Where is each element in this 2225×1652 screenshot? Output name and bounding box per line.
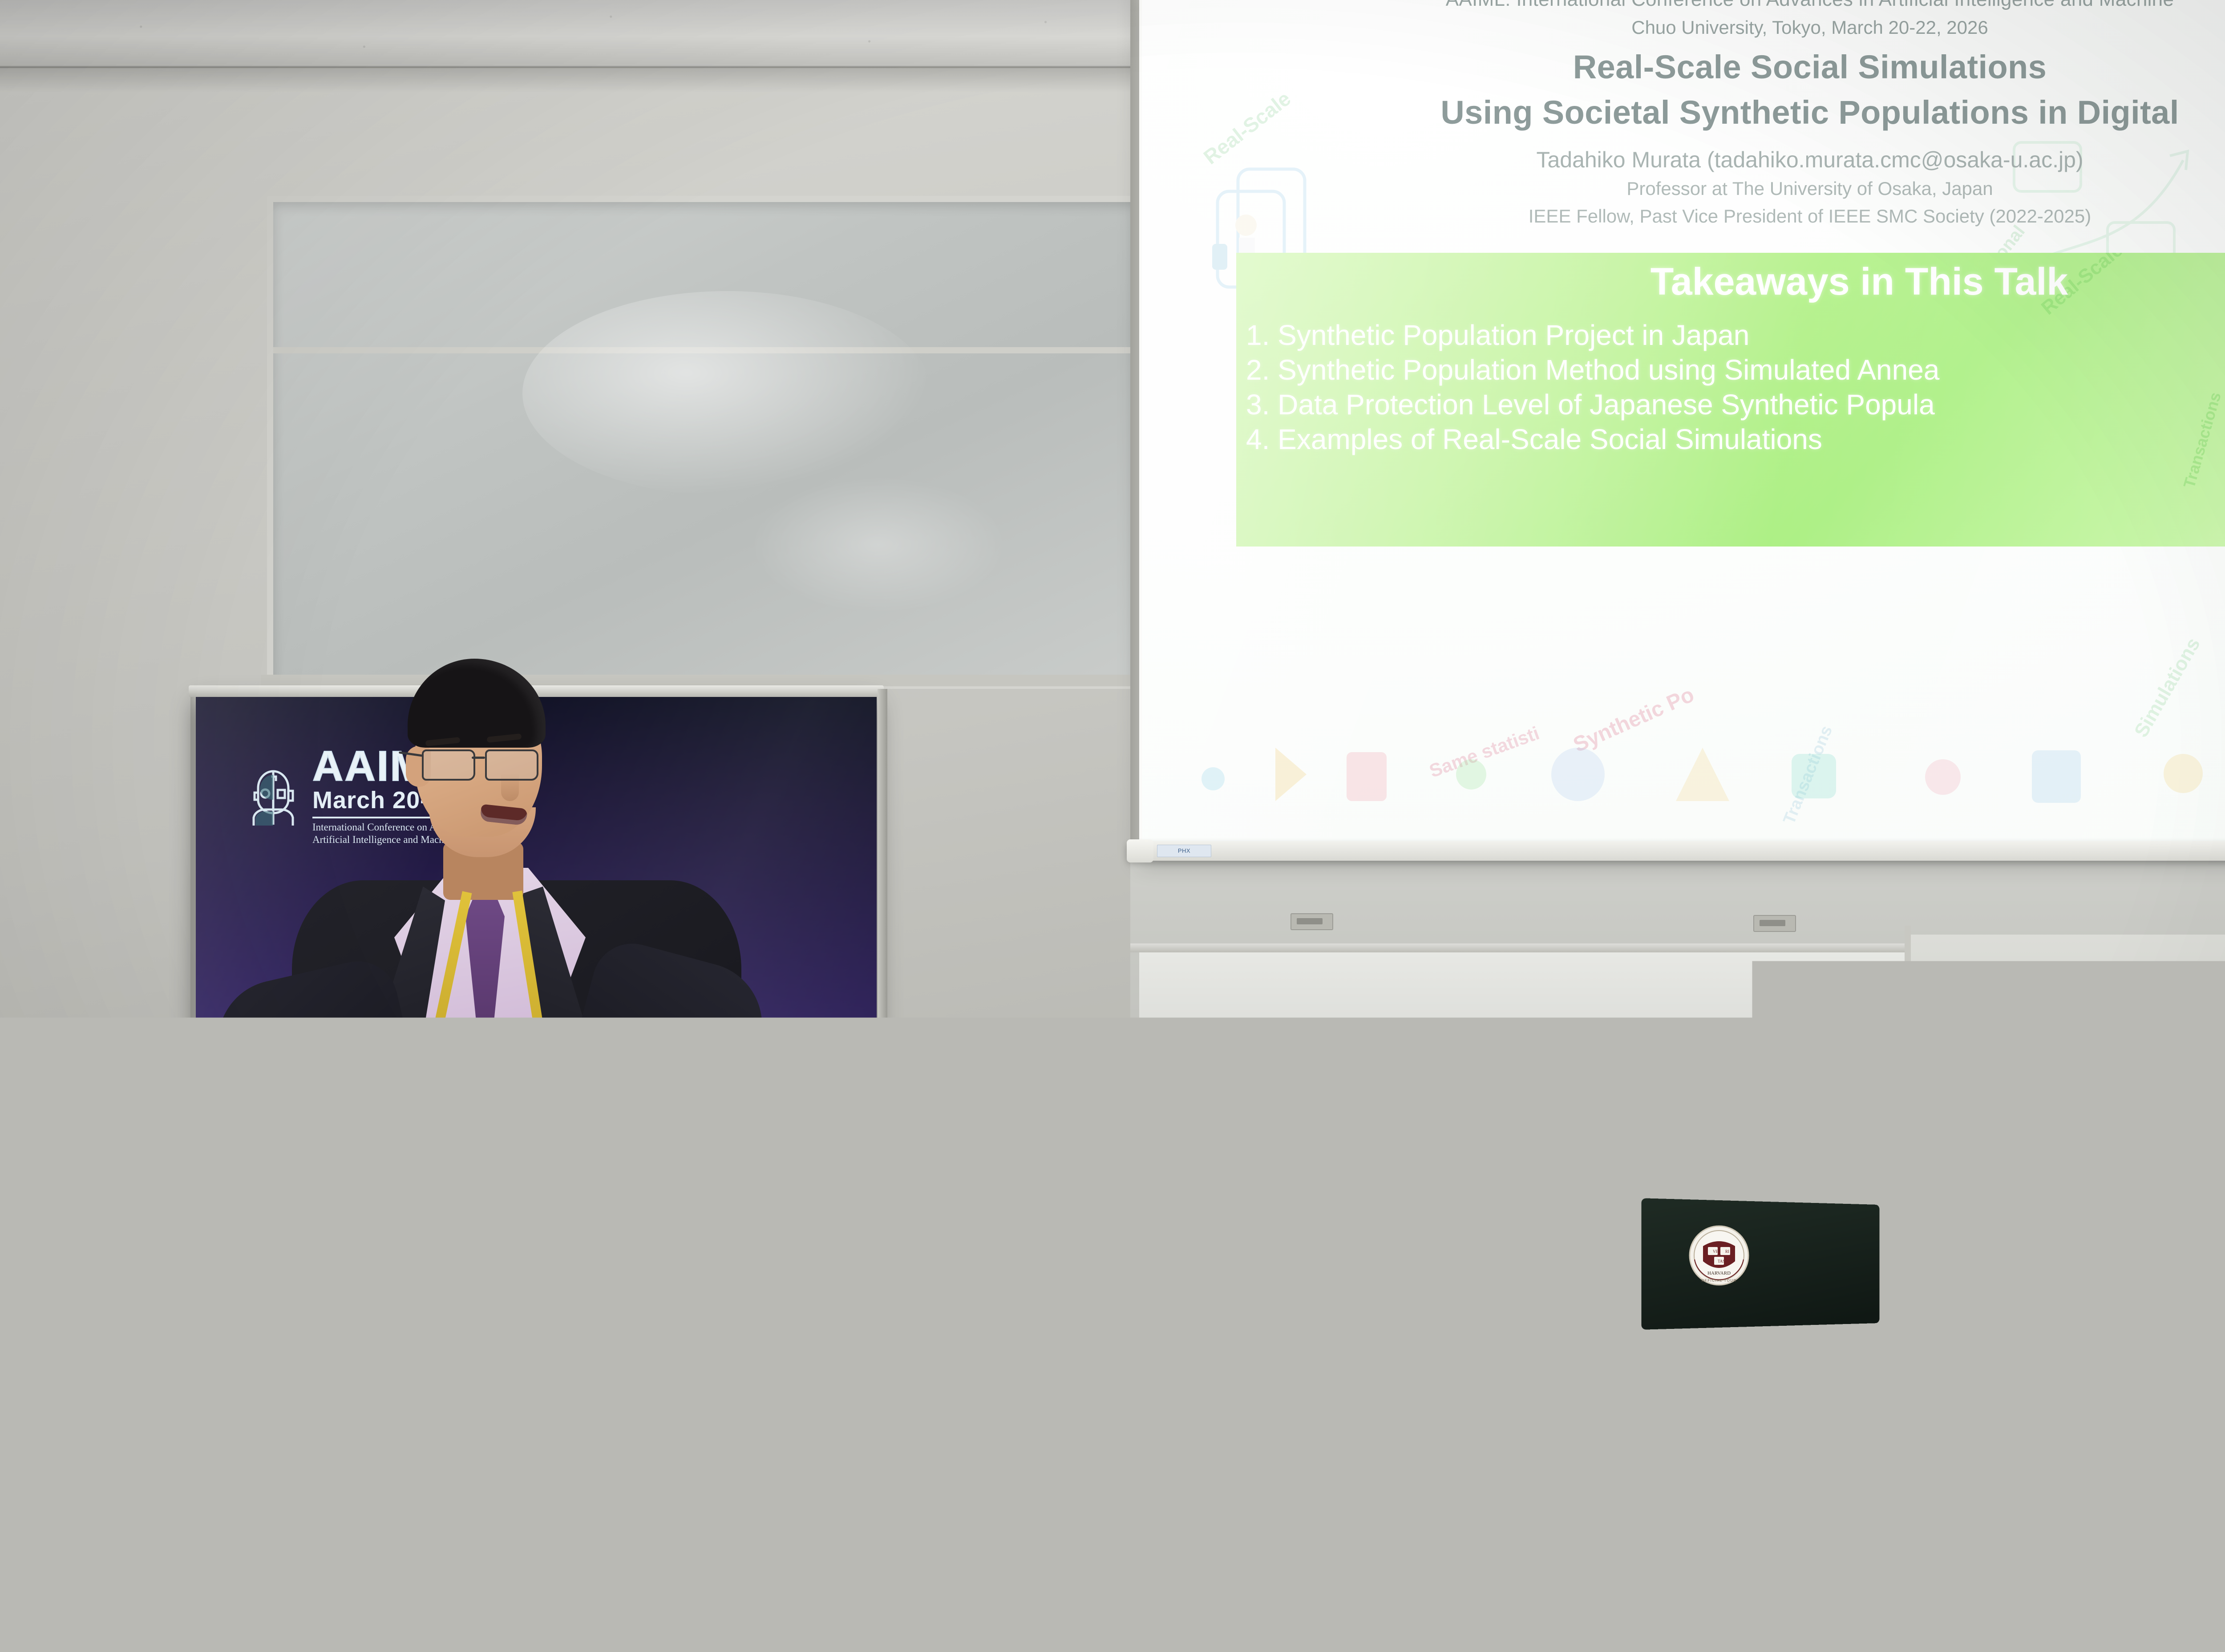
takeaway-item-3: 3. Data Protection Level of Japanese Syn… xyxy=(1246,387,2225,422)
takeaways-panel: Real-Scale Computational High Fidelity T… xyxy=(1236,253,2225,547)
stand-adjust-knob[interactable] xyxy=(1493,1228,1513,1257)
screen-brand-label: PHX xyxy=(1157,845,1211,857)
podium-top-edge xyxy=(872,1228,1468,1248)
svg-text:HARVARD: HARVARD xyxy=(1707,1271,1731,1276)
takeaway-item-1: 1. Synthetic Population Project in Japan xyxy=(1246,318,2225,352)
marker-dark[interactable] xyxy=(1517,1289,1533,1315)
marker-red-cap[interactable] xyxy=(1558,1294,1573,1302)
badge-name-block: Tadahiko Murata University of Osaka xyxy=(580,1196,633,1232)
banner-year-digit-1: 0 xyxy=(773,1075,798,1118)
takeaway-item-4: 4. Examples of Real-Scale Social Simulat… xyxy=(1246,422,2225,457)
slide-venue-line: Chuo University, Tokyo, March 20-22, 202… xyxy=(1142,17,2225,38)
takeaways-heading: Takeaways in This Talk xyxy=(1236,260,2225,304)
speaker: 2026 AAIML International Conference on A… xyxy=(249,659,765,1652)
whiteboard-latch-right[interactable] xyxy=(1753,915,1796,932)
marker-green[interactable] xyxy=(1479,1284,1490,1313)
presentation-photo: Real-Scale Simulations Synthetic Po Comp… xyxy=(0,0,2225,1652)
projector-brand-label: EPSON xyxy=(1013,1204,1062,1218)
eyeglasses-icon xyxy=(422,747,540,781)
banner-year: 2 0 2 6 xyxy=(773,1032,798,1203)
takeaways-list: 1. Synthetic Population Project in Japan… xyxy=(1246,318,2225,457)
laptop-second-screen xyxy=(1869,1208,1949,1326)
wall-shadow xyxy=(0,66,1201,93)
slide-conference-line: AAIML: International Conference on Advan… xyxy=(1142,0,2225,11)
lanyard xyxy=(427,890,561,1139)
svg-text:RI: RI xyxy=(1725,1249,1729,1254)
slide-honors-line: IEEE Fellow, Past Vice President of IEEE… xyxy=(1142,206,2225,227)
pen-holders xyxy=(1477,1273,1668,1335)
doodle-icons-bottom xyxy=(1160,721,2225,837)
slide-content: Real-Scale Simulations Synthetic Po Comp… xyxy=(1142,0,2225,841)
name-badge[interactable]: 2026 AAIML International Conference on A… xyxy=(566,1115,663,1239)
ceiling-texture xyxy=(0,0,1175,67)
whiteboard-latch[interactable] xyxy=(1290,913,1333,930)
chalk-box-white-2[interactable] xyxy=(1580,1300,1606,1322)
window-glare xyxy=(522,291,932,496)
banner-year-digit-0: 2 xyxy=(773,1032,798,1075)
laptop[interactable]: VE RI TAS HARVARD OFFICIAL TOUR xyxy=(1646,1202,1949,1335)
banner-year-digit-2: 2 xyxy=(773,1118,798,1160)
window-glare-secondary xyxy=(754,478,1003,611)
light-switch-panel[interactable] xyxy=(0,1415,211,1457)
svg-text:OFFICIAL TOUR: OFFICIAL TOUR xyxy=(1701,1279,1737,1283)
badge-role-strip xyxy=(593,1178,656,1193)
speaker-nose xyxy=(501,773,519,801)
slide-title-line2: Using Societal Synthetic Populations in … xyxy=(1142,93,2225,131)
desk-notice-sign xyxy=(2042,1304,2225,1341)
window xyxy=(267,196,1143,689)
slide-title-line1: Real-Scale Social Simulations xyxy=(1142,48,2225,86)
badge-header: 2026 AAIML International Conference on A… xyxy=(566,1115,659,1182)
slide-author-line: Tadahiko Murata (tadahiko.murata.cmc@osa… xyxy=(1142,147,2225,173)
podium-base xyxy=(930,1429,1411,1652)
harvard-sticker-icon: VE RI TAS HARVARD OFFICIAL TOUR xyxy=(1688,1225,1750,1286)
projector-lens xyxy=(988,1167,1006,1185)
marker-blue[interactable] xyxy=(1501,1291,1516,1317)
badge-ring xyxy=(605,1236,627,1258)
screen-bottom-bar[interactable]: PHX xyxy=(1127,841,2225,861)
board-right-panel xyxy=(1911,935,2225,1184)
screen-bar-end-cap xyxy=(1127,839,1153,862)
microphone-clip xyxy=(1485,1037,1524,1090)
svg-text:VE: VE xyxy=(1713,1249,1718,1254)
slide-affiliation-line: Professor at The University of Osaka, Ja… xyxy=(1142,178,2225,199)
projector-vent xyxy=(968,1179,1115,1203)
svg-text:TAS: TAS xyxy=(1718,1259,1725,1263)
takeaway-item-2: 2. Synthetic Population Method using Sim… xyxy=(1246,352,2225,387)
laptop-lid xyxy=(1641,1198,1879,1330)
audience-center-ear xyxy=(1967,1611,2005,1652)
speaker-hair xyxy=(408,659,546,748)
